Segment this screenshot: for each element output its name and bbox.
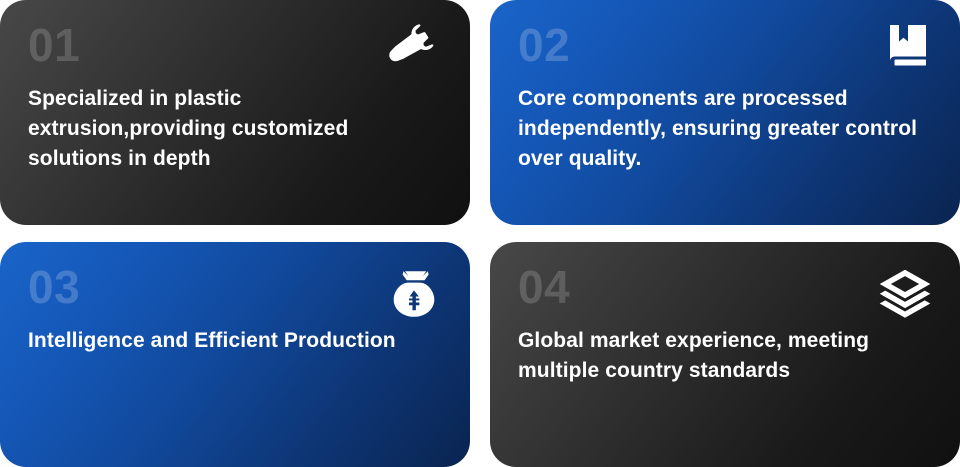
feature-card-01[interactable]: 01 Specialized in plastic extrusion,prov…	[0, 0, 470, 225]
feature-cards-grid: 01 Specialized in plastic extrusion,prov…	[0, 0, 960, 459]
feature-card-03[interactable]: 03 Intelligence and Efficient Production	[0, 242, 470, 467]
card-number: 02	[518, 22, 934, 68]
card-text: Core components are processed independen…	[518, 84, 934, 173]
card-text: Intelligence and Efficient Production	[28, 326, 444, 356]
feature-card-04[interactable]: 04 Global market experience, meeting mul…	[490, 242, 960, 467]
card-number: 04	[518, 264, 934, 310]
card-text: Specialized in plastic extrusion,providi…	[28, 84, 444, 173]
card-number: 01	[28, 22, 444, 68]
feature-card-02[interactable]: 02 Core components are processed indepen…	[490, 0, 960, 225]
card-text: Global market experience, meeting multip…	[518, 326, 934, 386]
card-number: 03	[28, 264, 444, 310]
